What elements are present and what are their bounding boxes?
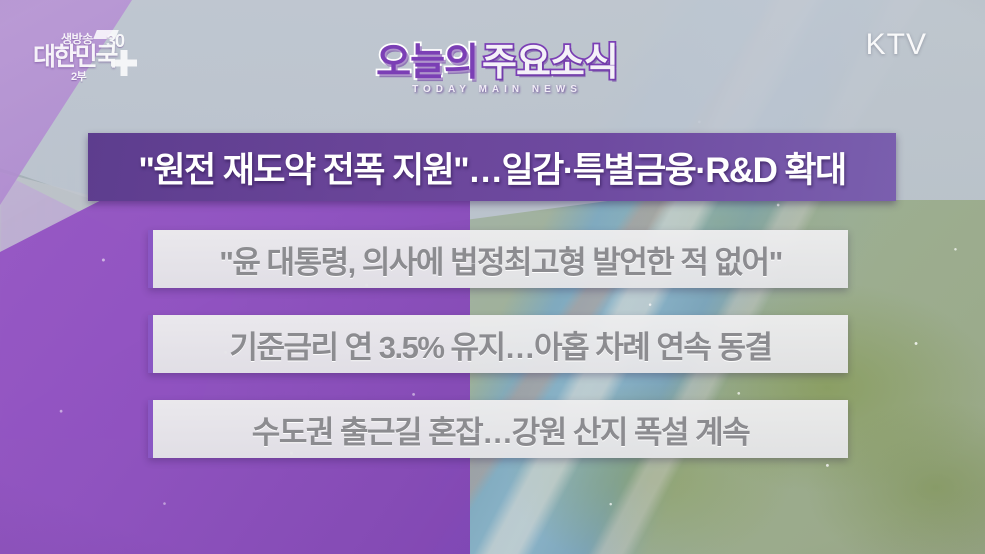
headline-item-1[interactable]: "원전 재도약 전폭 지원"…일감·특별금융·R&D 확대 xyxy=(88,133,896,201)
logo-program-name: 대한민국 xyxy=(33,45,116,70)
show-title-line: 오늘의주요소식 xyxy=(337,44,657,82)
channel-watermark: KTV xyxy=(866,28,927,62)
show-title-subtitle: TODAY MAIN NEWS xyxy=(337,84,657,95)
headline-text: 기준금리 연 3.5% 유지…아홉 차례 연속 동결 xyxy=(229,322,771,367)
headline-item-4[interactable]: 수도권 출근길 혼잡…강원 산지 폭설 계속 xyxy=(148,400,848,458)
headline-text: 수도권 출근길 혼잡…강원 산지 폭설 계속 xyxy=(252,407,749,452)
headline-item-2[interactable]: "윤 대통령, 의사에 법정최고형 발언한 적 없어" xyxy=(148,230,848,288)
headline-item-3[interactable]: 기준금리 연 3.5% 유지…아홉 차례 연속 동결 xyxy=(148,315,848,373)
headline-text: "원전 재도약 전폭 지원"…일감·특별금융·R&D 확대 xyxy=(138,142,845,193)
logo-part-label: 2부 xyxy=(71,72,86,83)
show-title-block: 오늘의주요소식 TODAY MAIN NEWS xyxy=(337,44,657,106)
show-title-segment-a: 오늘의 xyxy=(376,42,478,84)
plus-icon xyxy=(111,50,137,76)
headline-text: "윤 대통령, 의사에 법정최고형 발언한 적 없어" xyxy=(219,237,782,282)
program-logo: 생방송 30 대한민국 2부 xyxy=(33,28,138,100)
show-title-segment-b: 주요소식 xyxy=(482,42,618,84)
news-broadcast-screen: 생방송 30 대한민국 2부 KTV 오늘의주요소식 TODAY MAIN NE… xyxy=(0,0,985,554)
